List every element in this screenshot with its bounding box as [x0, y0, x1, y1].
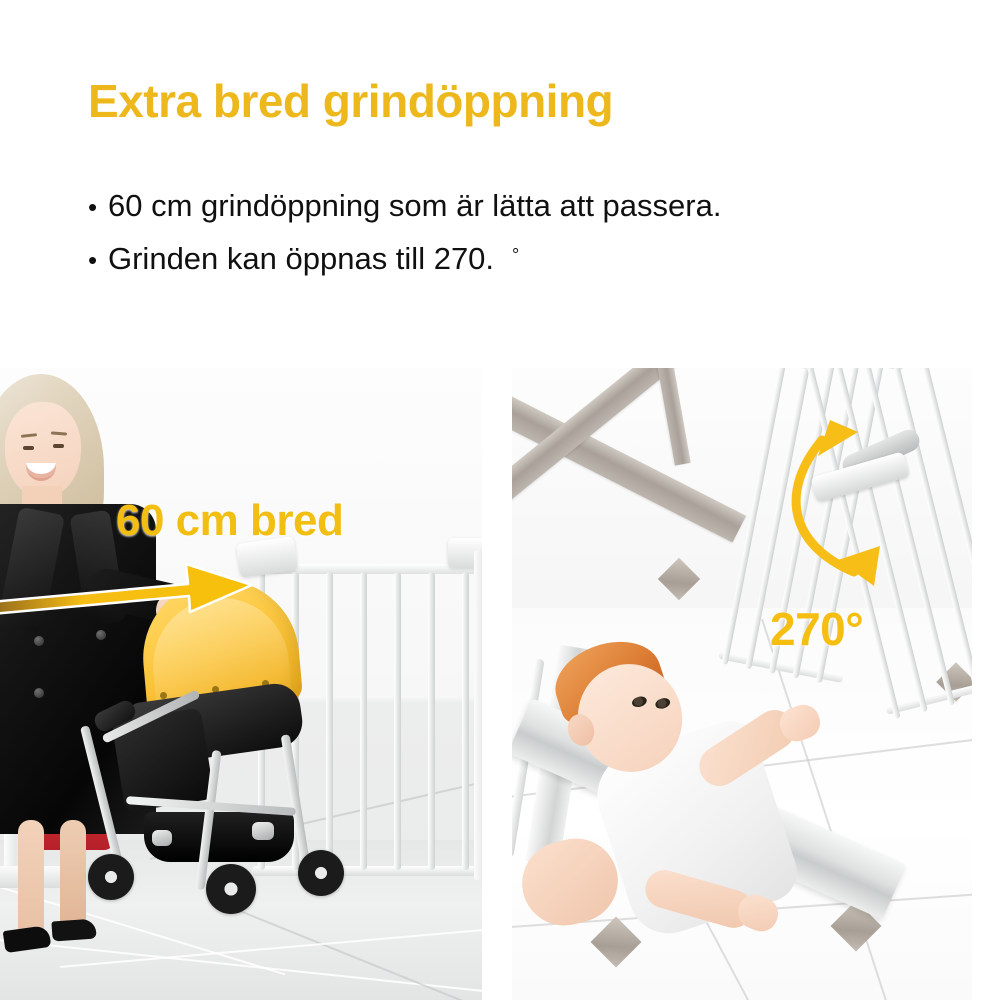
- rotation-arrow-icon: [762, 368, 972, 628]
- width-arrow-icon: [0, 558, 254, 616]
- degree-symbol: °: [512, 246, 519, 264]
- left-photo-caption: 60 cm bred: [116, 496, 343, 546]
- bullet-marker-icon: •: [88, 194, 108, 220]
- right-photo-caption: 270°: [770, 602, 863, 656]
- face: [5, 402, 81, 498]
- page-title: Extra bred grindöppning: [88, 78, 613, 124]
- bullet-text: Grinden kan öppnas till 270.: [108, 243, 494, 274]
- photo-left-gate-width: 60 cm bred: [0, 368, 482, 1000]
- bullet-marker-icon: •: [88, 247, 108, 273]
- gate-post-right: [474, 550, 482, 880]
- photo-row: 60 cm bred: [0, 368, 1000, 1000]
- photo-right-gate-angle: 270°: [512, 368, 972, 1000]
- product-infographic: Extra bred grindöppning • 60 cm grindöpp…: [0, 0, 1000, 1000]
- feature-bullet-list: • 60 cm grindöppning som är lätta att pa…: [88, 190, 948, 296]
- list-item: • Grinden kan öppnas till 270. °: [88, 243, 948, 274]
- header-section: Extra bred grindöppning • 60 cm grindöpp…: [0, 0, 1000, 368]
- bullet-text: 60 cm grindöppning som är lätta att pass…: [108, 190, 721, 221]
- list-item: • 60 cm grindöppning som är lätta att pa…: [88, 190, 948, 221]
